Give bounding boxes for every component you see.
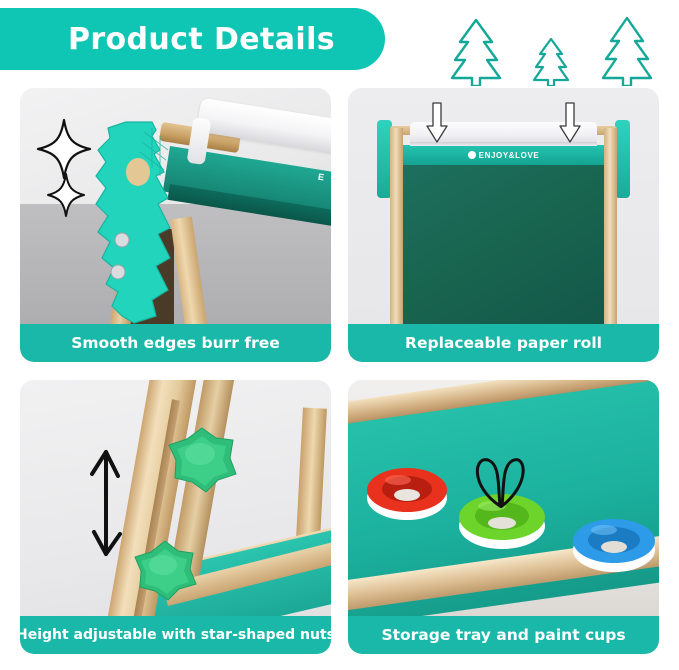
- panel-storage-tray[interactable]: Storage tray and paint cups: [348, 380, 659, 654]
- product-photo-paper-roll: ENJOY&LOVE: [348, 88, 659, 362]
- panel-smooth-edges[interactable]: E: [20, 88, 331, 362]
- brand-logo-group: ENJOY&LOVE: [468, 151, 540, 160]
- panel-caption-text: Height adjustable with star-shaped nuts: [20, 627, 331, 643]
- star-shaped-nut: [130, 538, 200, 604]
- bracket-hole: [126, 158, 150, 186]
- pine-tree-icon-small: [531, 36, 571, 86]
- panel-caption-bar: Height adjustable with star-shaped nuts: [20, 616, 331, 654]
- paint-cup-red: [364, 458, 450, 524]
- easel-frame-left: [390, 128, 403, 324]
- panel-height-adjustable[interactable]: Height adjustable with star-shaped nuts: [20, 380, 331, 654]
- sparkle-decoration-group: [34, 116, 108, 224]
- header-tree-decoration: [447, 14, 657, 86]
- panel-paper-roll[interactable]: ENJOY&LOVE Replaceable paper roll: [348, 88, 659, 362]
- chalkboard-surface: [403, 164, 604, 324]
- pine-tree-icon: [597, 14, 657, 86]
- panel-caption-text: Replaceable paper roll: [405, 334, 602, 352]
- product-photo-storage-tray: [348, 380, 659, 654]
- page-title: Product Details: [50, 22, 335, 57]
- brand-header-bar: ENJOY&LOVE: [403, 145, 604, 165]
- arrow-down-icon: [559, 102, 581, 144]
- header-banner: Product Details: [0, 8, 385, 70]
- paint-cup-blue: [570, 508, 658, 576]
- easel-frame-right: [604, 128, 617, 324]
- sparkle-icon-small: [48, 174, 84, 216]
- brand-name-text: ENJOY&LOVE: [479, 151, 540, 160]
- arrow-down-icon: [426, 102, 448, 144]
- pine-tree-icon: [447, 16, 505, 86]
- product-photo-smooth-edges: E: [20, 88, 331, 362]
- panel-caption-bar: Smooth edges burr free: [20, 324, 331, 362]
- star-shaped-nut: [164, 424, 240, 496]
- product-detail-panel-grid: E: [20, 88, 659, 654]
- double-arrow-up-down-icon: [82, 448, 132, 560]
- panel-caption-text: Storage tray and paint cups: [381, 626, 625, 644]
- sparkle-icon-large: [38, 120, 90, 178]
- screw-lower: [111, 265, 125, 279]
- product-photo-height-adjustable: [20, 380, 331, 654]
- panel-caption-bar: Storage tray and paint cups: [348, 616, 659, 654]
- panel-caption-bar: Replaceable paper roll: [348, 324, 659, 362]
- side-bracket-right: [615, 120, 630, 198]
- brand-logo-icon: [468, 151, 476, 159]
- string-loop-icon: [460, 452, 548, 508]
- panel-caption-text: Smooth edges burr free: [71, 334, 280, 352]
- screw-upper: [115, 233, 129, 247]
